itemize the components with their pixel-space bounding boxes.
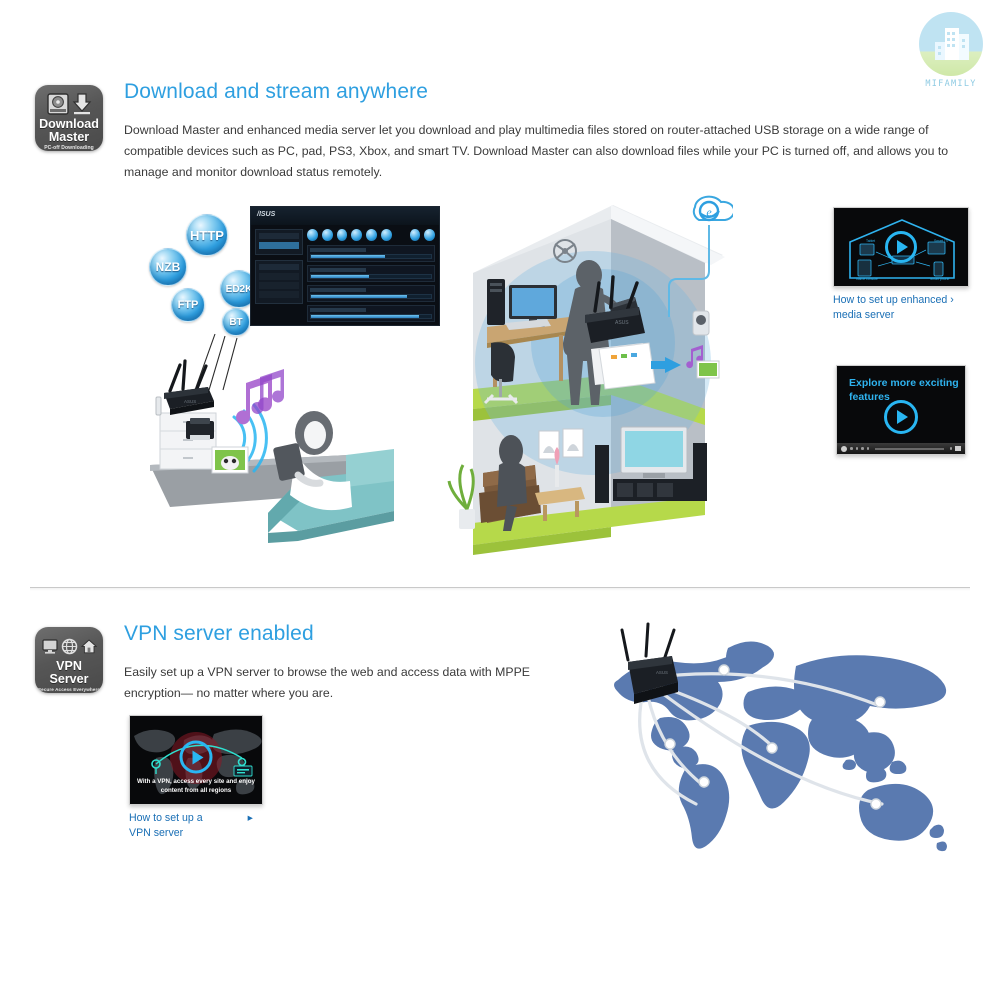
dm-task-name (310, 308, 366, 312)
download-section-title: Download and stream anywhere (124, 80, 428, 104)
brand-name: MIFAMILY (915, 79, 987, 89)
link-line-2: media server (833, 309, 894, 321)
home-network-house-illustration: e (443, 193, 733, 555)
dm-panel-task[interactable] (255, 229, 303, 255)
explore-features-video-thumb[interactable]: Explore more exciting features (836, 365, 966, 455)
control-dot[interactable] (867, 447, 870, 450)
media-server-video-thumb[interactable]: Tablet Game console Smart TV Smart phone (833, 207, 969, 287)
dm-progress-bar (310, 314, 432, 319)
dm-toolbar-icon[interactable] (410, 229, 421, 241)
control-dot[interactable] (850, 447, 853, 450)
bedroom-streaming-illustration: ASUS (150, 335, 405, 550)
svg-text:e: e (706, 205, 712, 219)
dm-task-row[interactable] (307, 245, 435, 262)
svg-text:Tablet: Tablet (866, 239, 875, 243)
vpn-setup-video-card[interactable]: With a VPN, access every site and enjoy … (129, 715, 271, 840)
world-map-illustration: ASUS (600, 622, 990, 872)
dm-task-name (310, 248, 366, 252)
triangle-right-icon: ▸ (248, 811, 253, 826)
section-divider (30, 587, 970, 588)
dm-toolbar-icon[interactable] (381, 229, 392, 241)
asus-download-master-window[interactable]: /ISUS (250, 206, 440, 326)
vpn-section-title: VPN server enabled (124, 622, 314, 646)
video-control-bar[interactable] (837, 443, 965, 454)
dm-sidebar-item[interactable] (259, 291, 299, 298)
dm-progress-bar (310, 254, 432, 259)
dm-panel-header (259, 233, 299, 239)
house-icon (81, 639, 97, 654)
hard-disk-icon (47, 93, 69, 115)
svg-text:Smart phone: Smart phone (930, 277, 950, 281)
play-control-icon[interactable] (841, 446, 847, 452)
download-master-glyphs (47, 90, 92, 118)
dm-task-row[interactable] (307, 285, 435, 302)
dm-progress-bar (310, 274, 432, 279)
svg-text:ASUS: ASUS (615, 320, 629, 326)
dm-task-name (310, 288, 366, 292)
dm-task-row-selected[interactable] (307, 325, 435, 326)
download-master-icon-subtitle: PC-off Downloading (44, 145, 94, 151)
download-arrow-icon (72, 93, 92, 115)
dm-sidebar-item[interactable] (259, 273, 299, 280)
dm-toolbar[interactable] (307, 229, 435, 241)
download-master-icon: Download Master PC-off Downloading (35, 85, 103, 151)
dm-toolbar-icon[interactable] (424, 229, 435, 241)
dm-sidebar-item[interactable] (259, 282, 299, 289)
globe-icon (61, 638, 78, 655)
control-dot[interactable] (950, 447, 953, 450)
dm-main-panel (307, 229, 435, 321)
dm-sidebar-item[interactable] (259, 242, 299, 249)
dm-toolbar-icon[interactable] (322, 229, 333, 241)
dm-panel-header (259, 264, 299, 270)
link-line-2: VPN server (129, 827, 183, 839)
svg-text:Game console: Game console (856, 277, 878, 281)
download-master-icon-title: Download Master (35, 118, 103, 143)
play-button-icon[interactable] (885, 231, 917, 263)
dm-toolbar-icon[interactable] (307, 229, 318, 241)
dm-toolbar-icon[interactable] (366, 229, 377, 241)
svg-text:ASUS: ASUS (184, 399, 196, 404)
page-root: MIFAMILY Download Master PC-off Download… (0, 0, 1000, 1000)
media-server-video-link[interactable]: How to set up enhanced › media server (833, 293, 973, 322)
media-server-video-card[interactable]: Tablet Game console Smart TV Smart phone… (833, 207, 973, 322)
dm-sidebar[interactable] (255, 229, 303, 309)
vpn-server-glyphs (42, 632, 97, 660)
download-section-body: Download Master and enhanced media serve… (124, 120, 979, 183)
video-progress-track[interactable] (875, 448, 944, 450)
dm-task-name (310, 268, 366, 272)
link-line-1: How to set up a (129, 812, 203, 824)
play-button-icon[interactable] (180, 741, 213, 774)
asus-router-icon: ASUS (164, 361, 214, 415)
dm-progress-bar (310, 294, 432, 299)
bubble-nzb: NZB (149, 248, 187, 286)
link-line-1: How to set up enhanced (833, 294, 947, 306)
dm-panel-settings[interactable] (255, 260, 303, 304)
bubble-ftp: FTP (171, 288, 205, 322)
dm-task-row[interactable] (307, 265, 435, 282)
control-dot[interactable] (856, 447, 859, 450)
dm-task-row[interactable] (307, 305, 435, 322)
building-icon (929, 24, 973, 64)
fullscreen-icon[interactable] (955, 446, 961, 451)
monitor-icon (42, 639, 58, 654)
chevron-right-icon: › (950, 294, 954, 306)
vpn-video-caption: With a VPN, access every site and enjoy … (130, 778, 262, 796)
vpn-setup-video-link[interactable]: How to set up a ▸ VPN server (129, 811, 271, 840)
explore-features-video-card[interactable]: Explore more exciting features (836, 365, 966, 455)
vpn-section-body: Easily set up a VPN server to browse the… (124, 662, 544, 704)
building-logo-icon (919, 12, 983, 76)
control-dot[interactable] (861, 447, 864, 450)
vpn-setup-video-thumb[interactable]: With a VPN, access every site and enjoy … (129, 715, 263, 805)
dm-toolbar-icon[interactable] (351, 229, 362, 241)
dm-titlebar: /ISUS (251, 207, 439, 225)
brand-watermark: MIFAMILY (915, 12, 987, 92)
bubble-http: HTTP (186, 214, 228, 256)
dm-toolbar-icon[interactable] (337, 229, 348, 241)
svg-text:ASUS: ASUS (656, 670, 668, 675)
play-button-icon[interactable] (884, 400, 918, 434)
internet-cloud-icon: e (694, 197, 733, 220)
svg-text:Smart TV: Smart TV (934, 239, 949, 243)
vpn-server-icon: VPN Server Secure Access Everywhere (35, 627, 103, 693)
vpn-server-icon-subtitle: Secure Access Everywhere (38, 687, 100, 692)
vpn-server-icon-title: VPN Server (35, 660, 103, 685)
asus-logo: /ISUS (257, 211, 275, 218)
